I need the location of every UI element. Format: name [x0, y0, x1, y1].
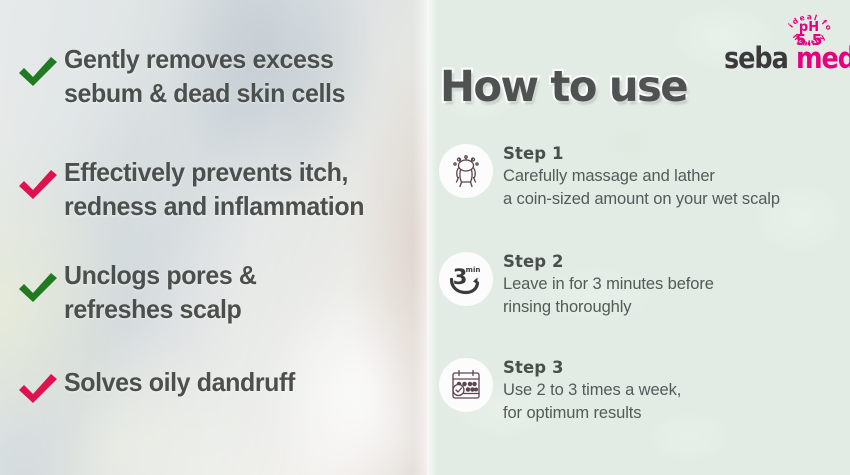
- page-title: How to use: [440, 62, 687, 112]
- benefit-item: Solves oily dandruff: [16, 365, 421, 407]
- step-label: Step 3: [503, 358, 681, 378]
- step-label: Step 1: [503, 144, 780, 164]
- step-label: Step 2: [503, 252, 714, 272]
- logo-word-seba: seba: [724, 44, 788, 73]
- sebamed-logo: ideal for healthy skin pH 5.5 sebamed®: [724, 4, 842, 84]
- step-text-block: Step 1 Carefully massage and lather a co…: [503, 142, 780, 211]
- three-minutes-timer-icon: 3 min: [439, 252, 493, 306]
- benefit-item: Gently removes excess sebum & dead skin …: [16, 42, 421, 111]
- advertisement-banner: Gently removes excess sebum & dead skin …: [0, 0, 850, 475]
- check-icon: [16, 167, 60, 203]
- logo-word-med: med: [796, 44, 850, 73]
- check-icon: [16, 270, 60, 306]
- step-description: Leave in for 3 minutes before rinsing th…: [503, 273, 714, 319]
- step-item: Step 3 Use 2 to 3 times a week, for opti…: [439, 356, 849, 425]
- benefit-text: Effectively prevents itch, redness and i…: [64, 155, 364, 224]
- step-text-block: Step 3 Use 2 to 3 times a week, for opti…: [503, 356, 681, 425]
- calendar-check-icon: [439, 358, 493, 412]
- sebamed-wordmark: sebamed®: [724, 44, 850, 80]
- benefit-text: Unclogs pores & refreshes scalp: [64, 258, 257, 327]
- how-to-use-panel: ideal for healthy skin pH 5.5 sebamed® H…: [427, 0, 850, 475]
- step-description: Use 2 to 3 times a week, for optimum res…: [503, 379, 681, 425]
- step-description: Carefully massage and lather a coin-size…: [503, 165, 780, 211]
- panel-edge-highlight: [427, 0, 437, 475]
- benefit-text: Solves oily dandruff: [64, 365, 295, 399]
- svg-text:min: min: [466, 266, 481, 274]
- step-text-block: Step 2 Leave in for 3 minutes before rin…: [503, 250, 714, 319]
- hair-wash-icon: [439, 144, 493, 198]
- check-icon: [16, 54, 60, 90]
- benefits-list: Gently removes excess sebum & dead skin …: [0, 0, 427, 475]
- benefit-text: Gently removes excess sebum & dead skin …: [64, 42, 345, 111]
- benefits-panel: Gently removes excess sebum & dead skin …: [0, 0, 427, 475]
- step-item: Step 1 Carefully massage and lather a co…: [439, 142, 849, 211]
- step-item: 3 min Step 2 Leave in for 3 minutes befo…: [439, 250, 849, 319]
- benefit-item: Unclogs pores & refreshes scalp: [16, 258, 421, 327]
- benefit-item: Effectively prevents itch, redness and i…: [16, 155, 421, 224]
- check-icon: [16, 371, 60, 407]
